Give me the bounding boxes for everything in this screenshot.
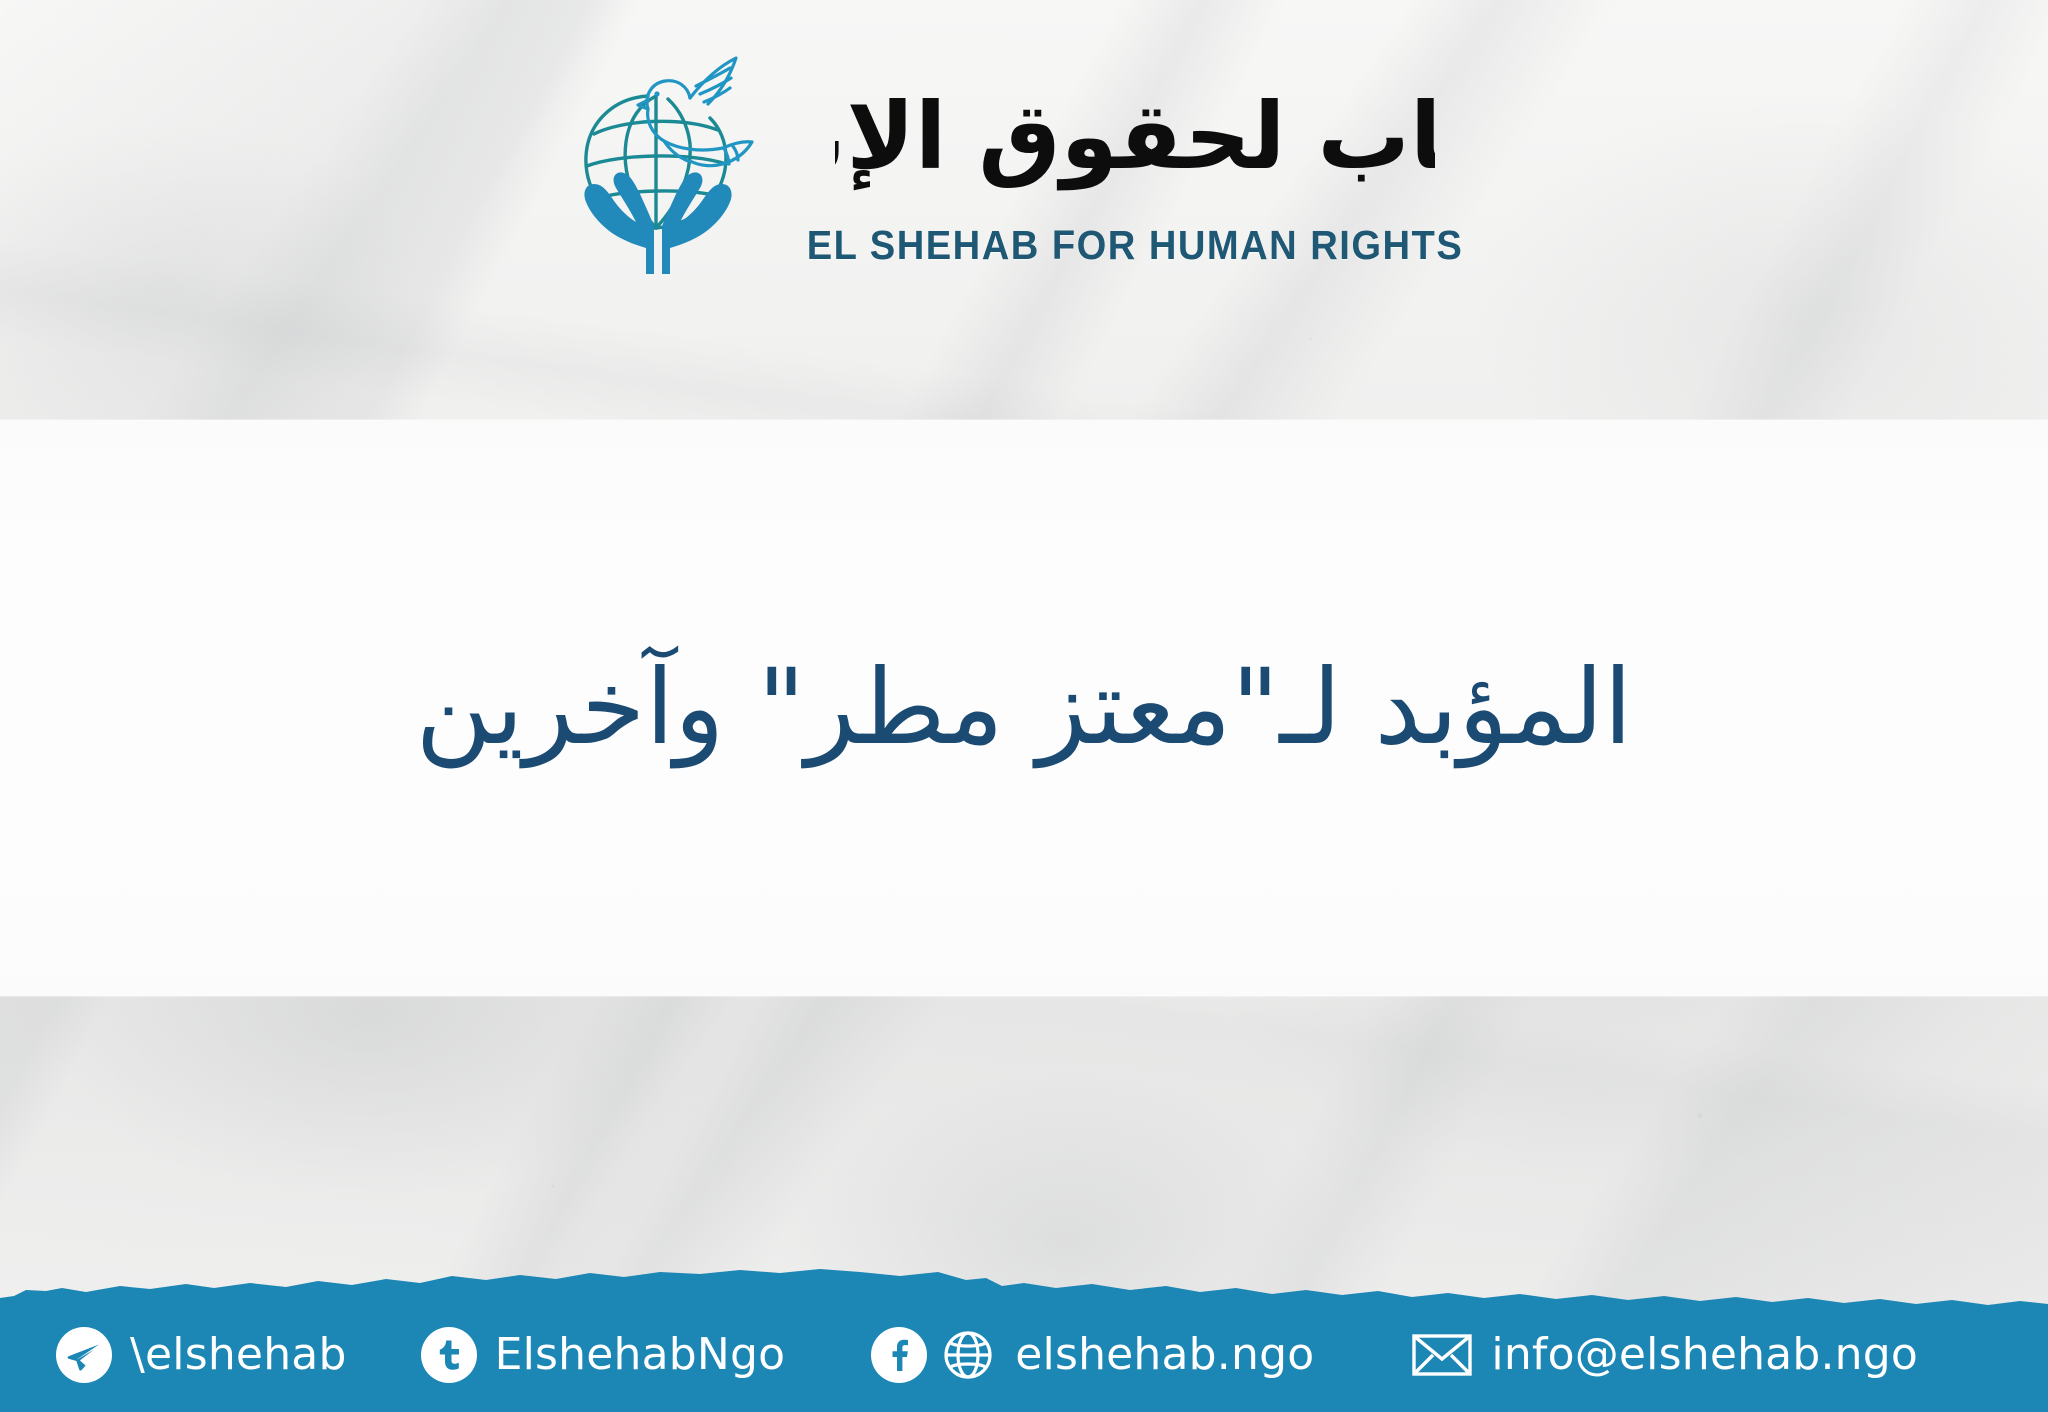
brand-english-name: EL SHEHAB FOR HUMAN RIGHTS [807, 222, 1464, 269]
contact-twitter-label: ElshehabNgo [495, 1333, 786, 1377]
twitter-icon [421, 1327, 477, 1383]
contact-website[interactable]: elshehab.ngo [871, 1326, 1314, 1384]
footer-contact-list: \elshehab ElshehabNgo [0, 1264, 2048, 1412]
brand-arabic-name: الشهاب لحقوق الإنسان [835, 83, 1435, 191]
news-card: الشهاب لحقوق الإنسان EL SHEHAB FOR HUMAN… [0, 0, 2048, 1412]
brand-header: الشهاب لحقوق الإنسان EL SHEHAB FOR HUMAN… [0, 28, 2048, 288]
brand-arabic-calligraphy: الشهاب لحقوق الإنسان [835, 52, 1435, 220]
contact-twitter[interactable]: ElshehabNgo [421, 1327, 786, 1383]
envelope-mail-icon [1411, 1330, 1473, 1380]
headline-band: المؤبد لـ"معتز مطر" وآخرين [0, 420, 2048, 996]
facebook-icon [871, 1327, 927, 1383]
headline-text: المؤبد لـ"معتز مطر" وآخرين [356, 634, 1693, 782]
telegram-icon [56, 1327, 112, 1383]
contact-telegram[interactable]: \elshehab [56, 1327, 347, 1383]
contact-website-icons [871, 1326, 997, 1384]
contact-website-label: elshehab.ngo [1015, 1333, 1314, 1377]
footer-contact-bar: \elshehab ElshehabNgo [0, 1264, 2048, 1412]
globe-website-icon [939, 1326, 997, 1384]
dove-globe-hands-icon [560, 42, 756, 274]
contact-telegram-label: \elshehab [130, 1333, 347, 1377]
contact-email-label: info@elshehab.ngo [1491, 1333, 1918, 1377]
contact-email[interactable]: info@elshehab.ngo [1411, 1330, 1918, 1380]
brand-wordmarks: الشهاب لحقوق الإنسان EL SHEHAB FOR HUMAN… [782, 52, 1488, 269]
